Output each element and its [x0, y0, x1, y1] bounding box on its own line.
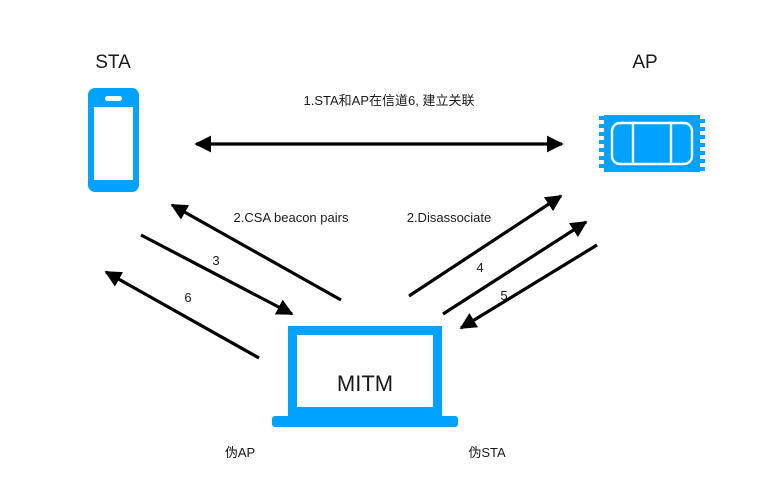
fake-ap-label: 伪AP [225, 445, 255, 460]
step1-label: 1.STA和AP在信道6, 建立关联 [304, 93, 475, 108]
node-ap: AP [599, 52, 705, 172]
step2-csa-label: 2.CSA beacon pairs [234, 210, 349, 225]
step6-label: 6 [184, 290, 191, 305]
fake-sta-label: 伪STA [468, 445, 506, 460]
step4-label: 4 [476, 260, 483, 275]
diagram-canvas: STA AP MITM [0, 0, 778, 478]
step3-label: 3 [212, 253, 219, 268]
mitm-label: MITM [337, 371, 393, 396]
node-sta: STA [88, 52, 139, 192]
ap-label: AP [632, 52, 657, 73]
step3-arrow [141, 235, 292, 314]
edge-step4: 4 [443, 222, 586, 314]
network-attack-diagram: STA AP MITM [0, 0, 778, 478]
edge-step2-csa: 2.CSA beacon pairs [172, 205, 349, 300]
step2-disassoc-label: 2.Disassociate [407, 210, 492, 225]
access-point-icon [599, 115, 705, 172]
smartphone-icon [88, 88, 139, 192]
sta-label: STA [95, 52, 131, 73]
step5-label: 5 [500, 288, 507, 303]
edge-step1: 1.STA和AP在信道6, 建立关联 [196, 93, 562, 144]
edge-step3: 3 [141, 235, 292, 314]
node-mitm: MITM [272, 326, 458, 427]
step4-arrow [443, 222, 586, 314]
